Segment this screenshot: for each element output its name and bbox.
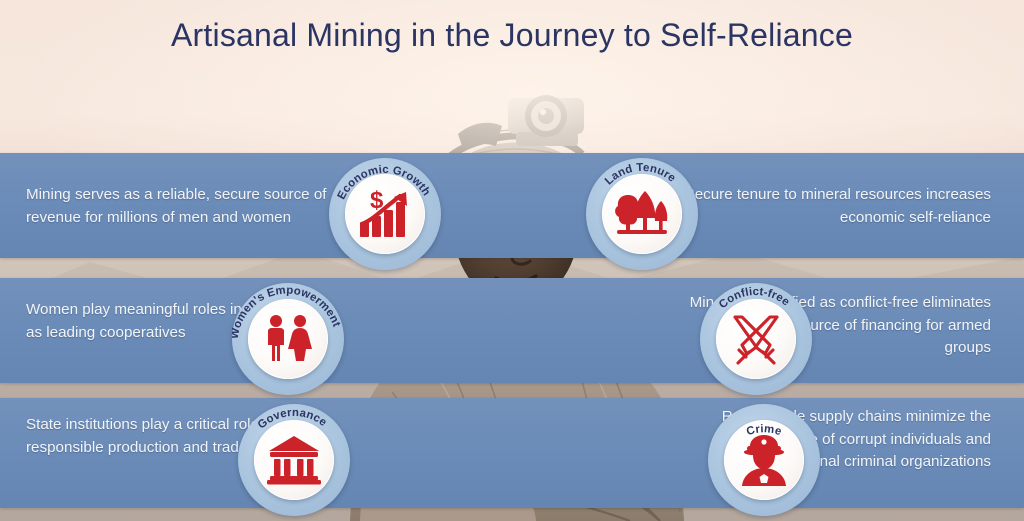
infographic-canvas: Artisanal Mining in the Journey to Self-… [0,0,1024,521]
row-1-left-text: Mining serves as a reliable, secure sour… [26,184,336,229]
badge-crime[interactable]: Crime [708,404,820,516]
svg-text:$: $ [370,188,384,214]
badge-disc: $ [345,174,425,254]
badge-disc [602,174,682,254]
badge-womens-empowerment[interactable]: Women's Empowerment [232,283,344,395]
badge-governance[interactable]: Governance [238,404,350,516]
row-1-right-text: Secure tenure to mineral resources incre… [681,184,991,229]
badge-disc [716,299,796,379]
man-woman-figures-icon [262,313,314,365]
bar-chart-growth-icon: $ [358,188,412,240]
page-title: Artisanal Mining in the Journey to Self-… [0,17,1024,54]
crossed-swords-icon [730,313,782,365]
classical-building-icon [267,435,321,485]
trees-icon [615,189,669,239]
badge-conflict-free[interactable]: Conflict-free [700,283,812,395]
badge-economic-growth[interactable]: $ Economic Growth [329,158,441,270]
badge-disc [724,420,804,500]
police-officer-icon [739,434,789,486]
badge-disc [248,299,328,379]
badge-land-tenure[interactable]: Land Tenure [586,158,698,270]
badge-disc [254,420,334,500]
